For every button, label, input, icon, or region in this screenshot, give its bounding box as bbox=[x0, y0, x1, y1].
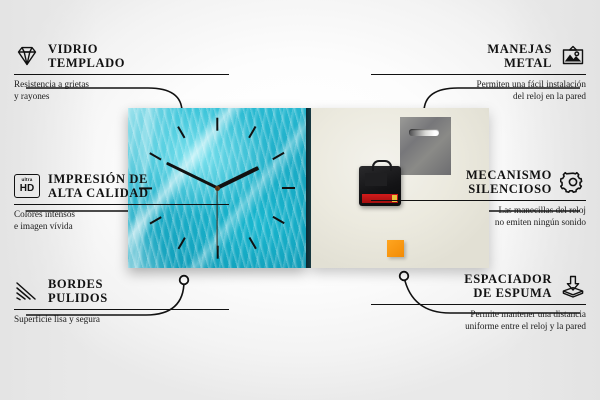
ultra-hd-icon: ultra HD bbox=[14, 174, 40, 198]
ultra-hd-icon-bottom-label: HD bbox=[20, 184, 34, 194]
feature-desc-line1: Superficie lisa y segura bbox=[14, 314, 229, 326]
feature-divider bbox=[14, 74, 229, 75]
feature-title-line2: DE ESPUMA bbox=[464, 286, 552, 300]
feature-divider bbox=[14, 204, 229, 205]
feature-title-line1: MECANISMO bbox=[466, 168, 552, 182]
feature-divider bbox=[371, 200, 586, 201]
clock-hour-marker bbox=[216, 117, 218, 130]
feature-title-line1: ESPACIADOR bbox=[464, 272, 552, 286]
polished-edges-icon bbox=[14, 279, 40, 303]
feature-title-line2: METAL bbox=[487, 56, 552, 70]
infographic-canvas: VIDRIO TEMPLADO Resistencia a grietas y … bbox=[0, 0, 600, 400]
feature-title-line1: BORDES bbox=[48, 277, 108, 291]
feature-desc-line2: uniforme entre el reloj y la pared bbox=[371, 321, 586, 333]
feature-desc-line1: Permite mantener una distancia bbox=[371, 309, 586, 321]
feature-title-line2: SILENCIOSO bbox=[466, 182, 552, 196]
feature-title-line1: VIDRIO bbox=[48, 42, 125, 56]
feature-impresion-alta-calidad: ultra HD IMPRESIÓN DE ALTA CALIDAD Color… bbox=[14, 172, 229, 232]
picture-frame-hanger-icon bbox=[560, 44, 586, 68]
feature-mecanismo-silencioso: MECANISMO SILENCIOSO Las manecillas del … bbox=[371, 168, 586, 228]
feature-desc-line2: y rayones bbox=[14, 91, 229, 103]
feature-title-line2: ALTA CALIDAD bbox=[48, 186, 149, 200]
metal-hanger-plate bbox=[400, 117, 451, 175]
gear-icon bbox=[560, 170, 586, 194]
feature-desc-line1: Resistencia a grietas bbox=[14, 79, 229, 91]
feature-divider bbox=[371, 304, 586, 305]
feature-title-line1: IMPRESIÓN DE bbox=[48, 172, 149, 186]
diamond-icon bbox=[14, 44, 40, 68]
feature-bordes-pulidos: BORDES PULIDOS Superficie lisa y segura bbox=[14, 277, 229, 326]
feature-manejas-metal: MANEJAS METAL Permiten una fácil instala… bbox=[371, 42, 586, 102]
feature-desc-line1: Permiten una fácil instalación bbox=[371, 79, 586, 91]
feature-divider bbox=[14, 309, 229, 310]
feature-title-line2: TEMPLADO bbox=[48, 56, 125, 70]
feature-desc-line2: del reloj en la pared bbox=[371, 91, 586, 103]
feature-desc-line2: no emiten ningún sonido bbox=[371, 217, 586, 229]
feature-desc-line2: e imagen vívida bbox=[14, 221, 229, 233]
feature-divider bbox=[371, 74, 586, 75]
feature-desc-line1: Colores intensos bbox=[14, 209, 229, 221]
clock-hour-marker bbox=[282, 187, 295, 189]
foam-spacer-pad bbox=[387, 240, 404, 257]
feature-title-line1: MANEJAS bbox=[487, 42, 552, 56]
feature-espaciador-espuma: ESPACIADOR DE ESPUMA Permite mantener un… bbox=[371, 272, 586, 332]
foam-spacer-arrow-icon bbox=[560, 274, 586, 298]
feature-title-line2: PULIDOS bbox=[48, 291, 108, 305]
feature-desc-line1: Las manecillas del reloj bbox=[371, 205, 586, 217]
feature-vidrio-templado: VIDRIO TEMPLADO Resistencia a grietas y … bbox=[14, 42, 229, 102]
hanger-keyhole-slot bbox=[409, 129, 439, 136]
